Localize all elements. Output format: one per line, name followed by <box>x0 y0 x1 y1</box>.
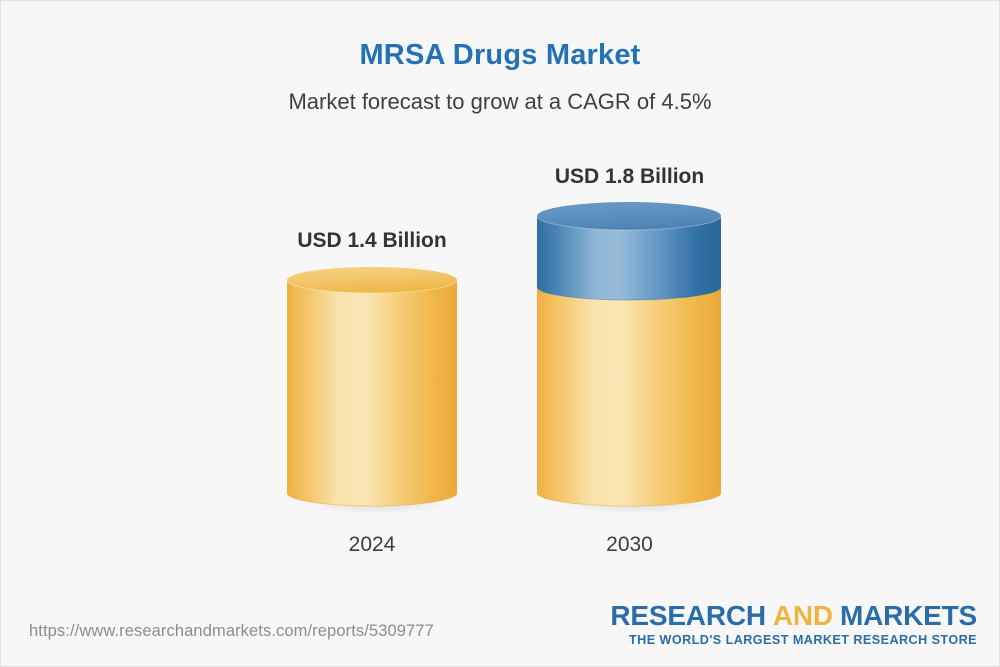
cylinder-2030 <box>536 202 723 519</box>
logo-word-research: RESEARCH <box>610 600 766 631</box>
report-url[interactable]: https://www.researchandmarkets.com/repor… <box>29 622 434 641</box>
chart-canvas: MRSA Drugs Market Market forecast to gro… <box>0 0 1000 667</box>
logo-tagline: THE WORLD'S LARGEST MARKET RESEARCH STOR… <box>610 632 977 648</box>
plot-area: USD 1.4 Billion <box>1 1 1000 601</box>
logo-word-and: AND <box>773 600 833 631</box>
year-label-2030: 2030 <box>606 533 653 557</box>
year-label-2024: 2024 <box>349 533 396 557</box>
value-label-2030: USD 1.8 Billion <box>555 165 704 189</box>
value-label-2024: USD 1.4 Billion <box>297 229 446 253</box>
logo-wordmark: RESEARCHANDMARKETS <box>610 601 977 630</box>
logo-word-markets: MARKETS <box>840 600 977 631</box>
cylinder-2024 <box>286 267 458 519</box>
research-and-markets-logo[interactable]: RESEARCHANDMARKETS THE WORLD'S LARGEST M… <box>610 601 977 649</box>
